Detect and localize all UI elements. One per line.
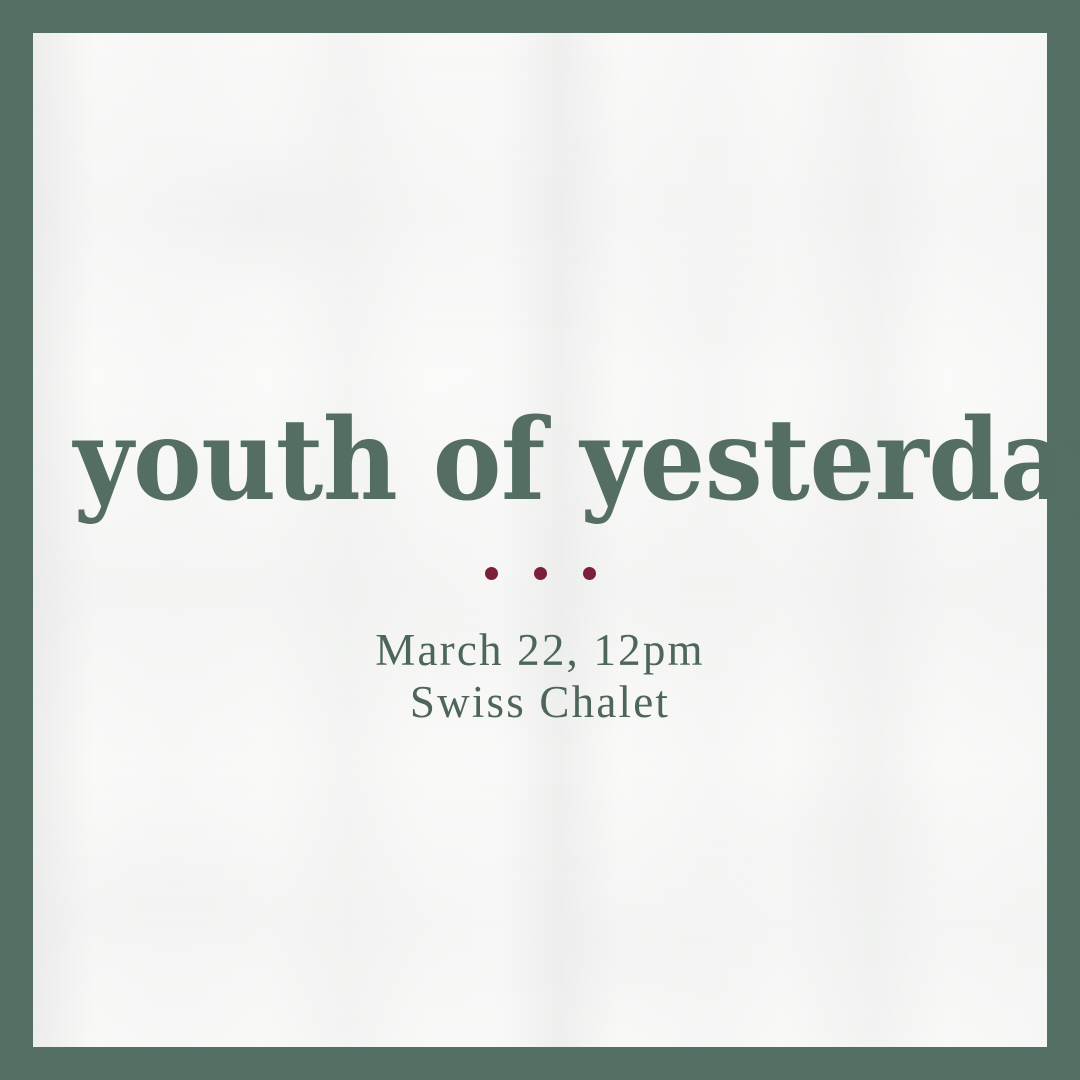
- divider-dot-icon: [583, 567, 596, 580]
- page-title: youth of yesterday: [74, 405, 1007, 517]
- divider-dot-icon: [534, 567, 547, 580]
- event-poster: youth of yesterday March 22, 12pm Swiss …: [0, 0, 1080, 1080]
- paper-texture-overlay: [33, 33, 1047, 1047]
- event-venue: Swiss Chalet: [33, 676, 1047, 728]
- headline-container: youth of yesterday: [33, 405, 1047, 517]
- poster-paper-card: youth of yesterday March 22, 12pm Swiss …: [33, 33, 1047, 1047]
- divider-dot-icon: [485, 567, 498, 580]
- event-date-time: March 22, 12pm: [33, 624, 1047, 676]
- dot-divider: [33, 567, 1047, 580]
- event-details: March 22, 12pm Swiss Chalet: [33, 624, 1047, 728]
